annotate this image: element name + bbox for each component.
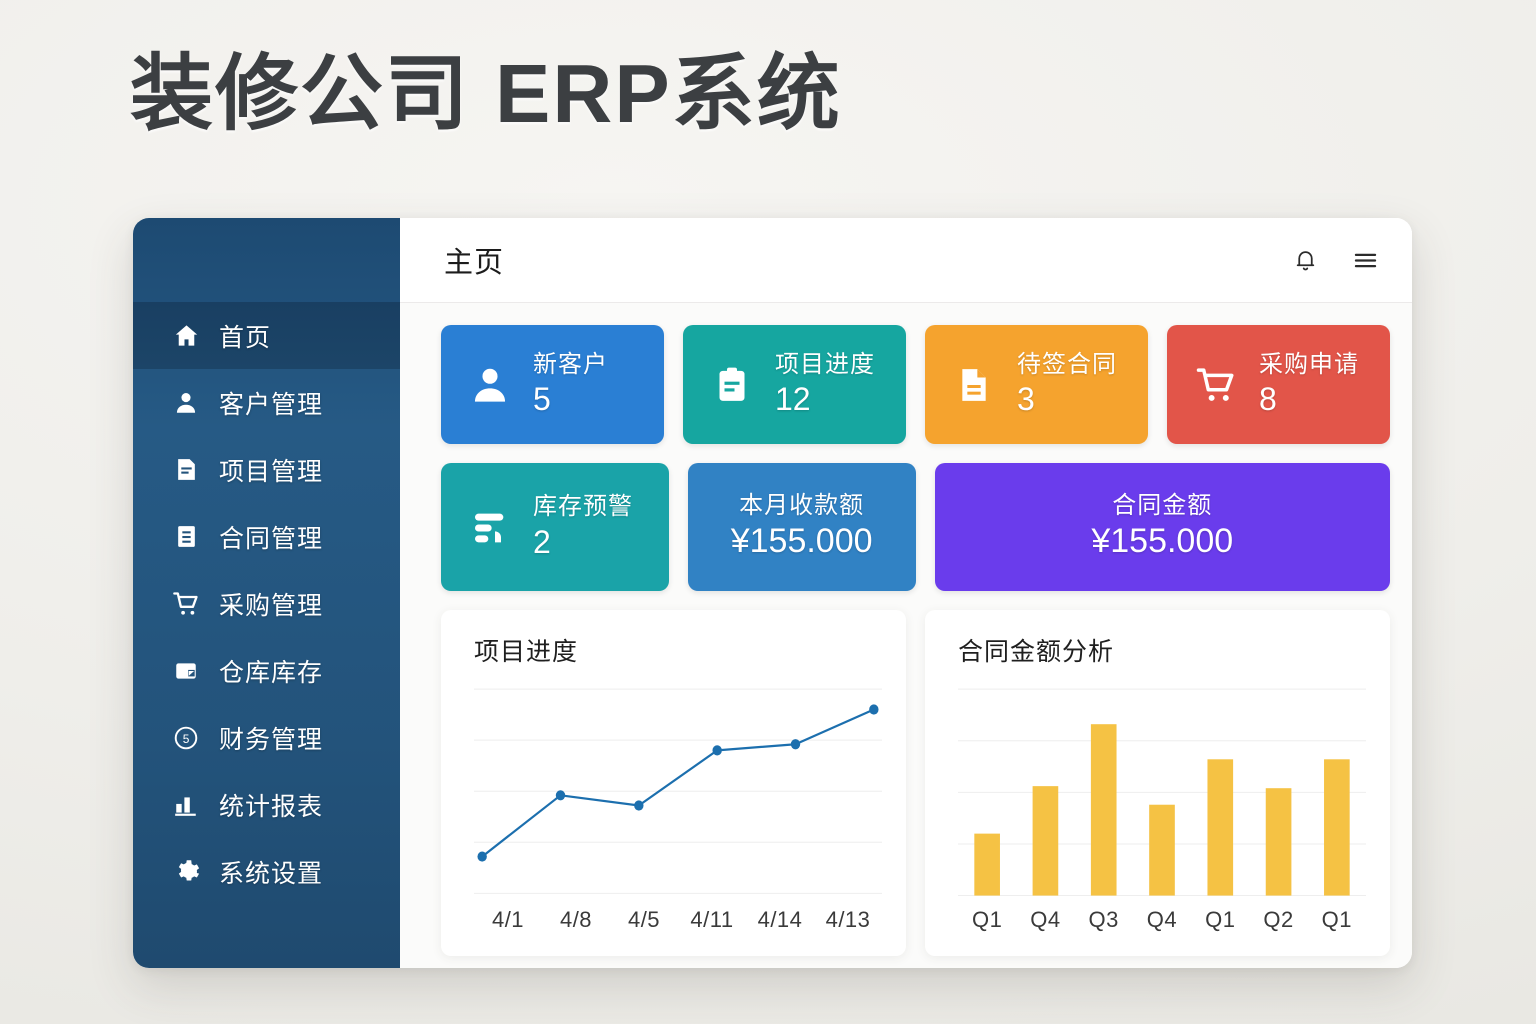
sidebar-item-label: 项目管理: [219, 452, 323, 488]
panel-contract-amount-analysis: 合同金额分析 Q1Q4Q3Q4Q1Q2Q1: [925, 610, 1390, 956]
stat-card-purchase-requests[interactable]: 采购申请 8: [1167, 325, 1390, 444]
user-icon: [467, 362, 513, 408]
stat-value: 3: [1017, 380, 1117, 418]
stat-card-new-customers[interactable]: 新客户 5: [441, 325, 664, 444]
app-window: 首页 客户管理 项目管理 合同管理 采购管理: [133, 218, 1412, 968]
stat-cards-row-2: 库存预警 2 本月收款额 ¥155.000 合同金额 ¥155.000: [441, 463, 1390, 591]
page-title: 装修公司 ERP系统: [130, 52, 842, 135]
coin-icon: 5: [171, 723, 201, 753]
stock-icon: [467, 504, 513, 550]
line-chart-x-axis: 4/14/84/54/114/144/13: [474, 900, 882, 940]
user-icon: [171, 388, 201, 418]
stat-label: 合同金额: [1112, 492, 1212, 520]
topbar-actions: [1288, 243, 1382, 277]
x-tick-label: 4/1: [474, 907, 542, 933]
dashboard-content: 新客户 5 项目进度 12: [400, 303, 1412, 968]
stat-card-stock-alert[interactable]: 库存预警 2: [441, 463, 669, 591]
sidebar-item-label: 合同管理: [219, 519, 323, 555]
main-area: 主页 新客户 5: [400, 218, 1412, 968]
stat-label: 本月收款额: [739, 492, 864, 520]
sidebar-item-finance[interactable]: 5 财务管理: [133, 704, 400, 771]
x-tick-label: Q4: [1016, 907, 1074, 933]
sidebar-item-projects[interactable]: 项目管理: [133, 436, 400, 503]
stat-label: 新客户: [533, 351, 608, 379]
bar-chart-x-axis: Q1Q4Q3Q4Q1Q2Q1: [958, 900, 1366, 940]
gear-icon: [171, 857, 201, 887]
sidebar: 首页 客户管理 项目管理 合同管理 采购管理: [133, 218, 400, 968]
hamburger-icon[interactable]: [1348, 243, 1382, 277]
cart-icon: [171, 589, 201, 619]
stat-value: ¥155.000: [731, 521, 873, 562]
chart-panels: 项目进度 4/14/84/54/114/144/13 合同金额分析 Q1Q4Q3…: [441, 610, 1390, 956]
x-tick-label: Q1: [958, 907, 1016, 933]
warehouse-icon: [171, 656, 201, 686]
cart-icon: [1193, 362, 1239, 408]
stat-value: ¥155.000: [1091, 521, 1233, 562]
project-icon: [171, 455, 201, 485]
stat-card-project-progress[interactable]: 项目进度 12: [683, 325, 906, 444]
stat-cards-row-1: 新客户 5 项目进度 12: [441, 325, 1390, 444]
stat-card-pending-contracts[interactable]: 待签合同 3: [925, 325, 1148, 444]
bar-chart-icon: [171, 790, 201, 820]
sidebar-item-label: 首页: [219, 318, 271, 354]
sidebar-item-purchasing[interactable]: 采购管理: [133, 570, 400, 637]
svg-text:5: 5: [183, 731, 190, 745]
stat-card-monthly-receipts[interactable]: 本月收款额 ¥155.000: [688, 463, 916, 591]
stat-label: 库存预警: [533, 493, 633, 521]
sidebar-item-customers[interactable]: 客户管理: [133, 369, 400, 436]
sidebar-item-warehouse[interactable]: 仓库库存: [133, 637, 400, 704]
panel-project-progress: 项目进度 4/14/84/54/114/144/13: [441, 610, 906, 956]
sidebar-item-reports[interactable]: 统计报表: [133, 771, 400, 838]
sidebar-item-label: 仓库库存: [219, 653, 323, 689]
sidebar-item-label: 采购管理: [219, 586, 323, 622]
sidebar-item-label: 客户管理: [219, 385, 323, 421]
stat-label: 待签合同: [1017, 351, 1117, 379]
x-tick-label: 4/11: [678, 907, 746, 933]
bell-icon[interactable]: [1288, 243, 1322, 277]
clipboard-icon: [709, 362, 755, 408]
stat-value: 8: [1259, 380, 1359, 418]
chart-title: 项目进度: [474, 632, 882, 668]
sidebar-item-label: 统计报表: [219, 787, 323, 823]
sidebar-item-home[interactable]: 首页: [133, 302, 400, 369]
document-icon: [951, 362, 997, 408]
contract-icon: [171, 522, 201, 552]
sidebar-item-settings[interactable]: 系统设置: [133, 838, 400, 905]
topbar: 主页: [400, 218, 1412, 303]
stat-label: 采购申请: [1259, 351, 1359, 379]
x-tick-label: Q3: [1075, 907, 1133, 933]
home-icon: [171, 321, 201, 351]
x-tick-label: 4/14: [746, 907, 814, 933]
x-tick-label: Q1: [1191, 907, 1249, 933]
sidebar-item-label: 财务管理: [219, 720, 323, 756]
topbar-title: 主页: [444, 239, 504, 281]
stat-value: 2: [533, 523, 633, 561]
line-chart-plot: [474, 678, 882, 900]
sidebar-item-contracts[interactable]: 合同管理: [133, 503, 400, 570]
x-tick-label: 4/8: [542, 907, 610, 933]
x-tick-label: Q1: [1308, 907, 1366, 933]
x-tick-label: Q2: [1249, 907, 1307, 933]
chart-title: 合同金额分析: [958, 632, 1366, 668]
bar-chart-plot: [958, 678, 1366, 900]
stat-value: 5: [533, 380, 608, 418]
x-tick-label: Q4: [1133, 907, 1191, 933]
sidebar-item-label: 系统设置: [219, 854, 323, 890]
x-tick-label: 4/5: [610, 907, 678, 933]
stat-value: 12: [775, 380, 875, 418]
stat-label: 项目进度: [775, 351, 875, 379]
stat-card-contract-amount[interactable]: 合同金额 ¥155.000: [935, 463, 1391, 591]
x-tick-label: 4/13: [814, 907, 882, 933]
